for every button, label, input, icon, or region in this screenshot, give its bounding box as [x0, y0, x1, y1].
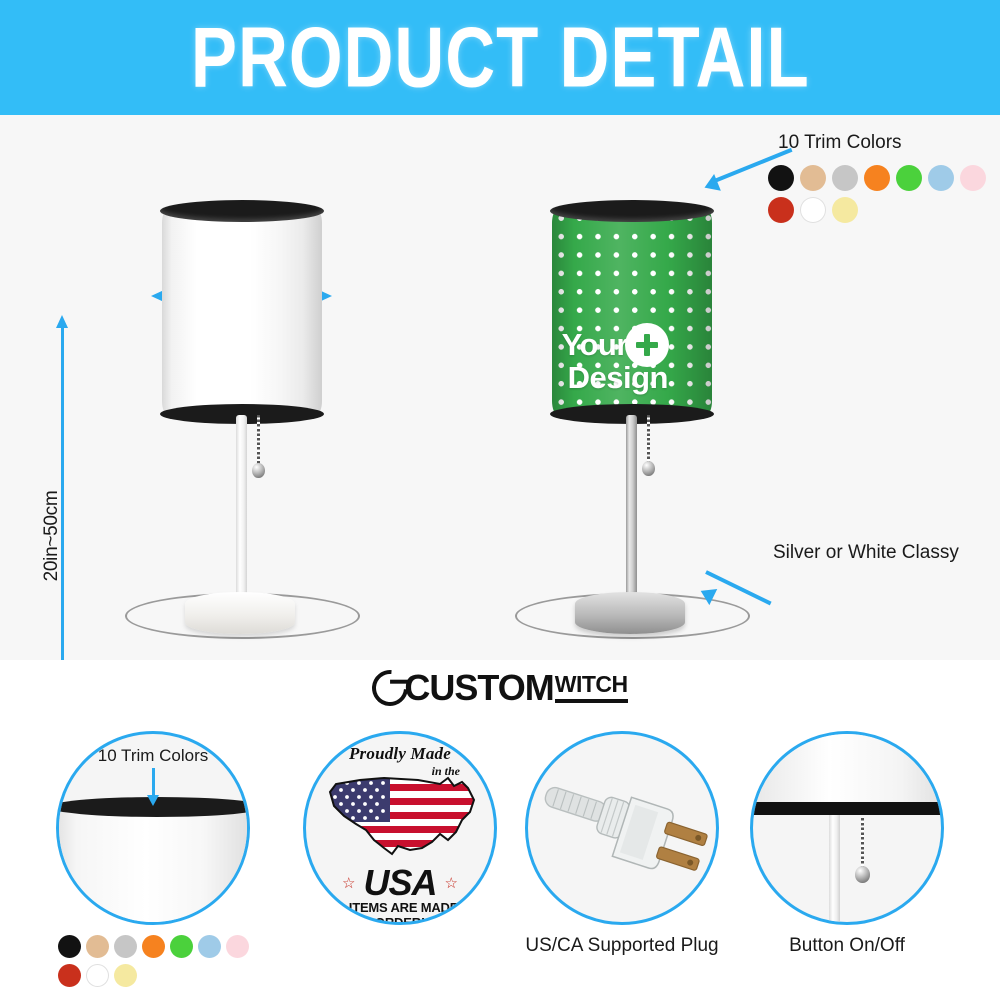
feature-panels: 10 Trim Colors Proudly Made in the [0, 715, 1000, 1000]
usa-badge-line1: Proudly Made [306, 744, 494, 764]
lamp-white-base [185, 592, 295, 634]
lamp-green-base [575, 592, 685, 634]
lamp-white-pull-chain [257, 415, 260, 465]
plug-panel-caption: US/CA Supported Plug [497, 935, 747, 957]
trim-color-swatch-light-blue[interactable] [198, 935, 221, 958]
trim-colors-panel-shade [56, 806, 250, 925]
trim-color-swatch-white[interactable] [800, 197, 826, 223]
trim-colors-swatch-row-bottom [58, 935, 273, 993]
lamp-white-chain-ball [252, 463, 265, 478]
trim-color-swatch-white[interactable] [86, 964, 109, 987]
product-showcase-stage: 7in~18cm 20in~50cm Your Design [0, 115, 1000, 660]
trim-color-swatch-tan[interactable] [86, 935, 109, 958]
lamp-green-shade-surface: Your Design [552, 209, 712, 415]
lamp-white-trim-top [160, 200, 324, 222]
lamp-green-pull-chain [647, 415, 650, 463]
made-in-usa-panel: Proudly Made in the [275, 727, 525, 1000]
trim-color-swatch-light-blue[interactable] [928, 165, 954, 191]
trim-color-swatch-pink[interactable] [226, 935, 249, 958]
switch-panel-caption: Button On/Off [722, 935, 972, 957]
lamp-green-shade: Your Design [552, 209, 712, 415]
usa-star-right: ☆ [445, 874, 458, 892]
us-power-plug-icon [538, 774, 718, 894]
made-in-usa-circle: Proudly Made in the [303, 731, 497, 925]
trim-colors-panel-circle: 10 Trim Colors [56, 731, 250, 925]
switch-panel: Button On/Off [722, 727, 972, 1000]
header-banner: PRODUCT DETAIL [0, 0, 1000, 115]
lamp-white-shade-surface [162, 209, 322, 415]
pull-chain-ball [855, 866, 870, 883]
down-arrow-icon [152, 768, 155, 796]
trim-color-swatch-yellow[interactable] [832, 197, 858, 223]
trim-colors-panel-label: 10 Trim Colors [59, 746, 247, 766]
height-dimension-label: 20in~50cm [41, 441, 63, 631]
brand-name-primary: CUSTOM [404, 667, 553, 709]
lamp-green-pole [626, 415, 637, 615]
trim-color-swatch-orange[interactable] [142, 935, 165, 958]
trim-color-swatch-orange[interactable] [864, 165, 890, 191]
trim-color-swatch-gray[interactable] [832, 165, 858, 191]
trim-colors-swatch-row-top [768, 165, 1000, 229]
trim-colors-panel: 10 Trim Colors [28, 727, 278, 1000]
brand-underline [555, 699, 628, 703]
usa-badge-word: USA [306, 862, 494, 904]
trim-colors-callout-label: 10 Trim Colors [778, 132, 902, 154]
trim-color-swatch-black[interactable] [58, 935, 81, 958]
switch-panel-shade [750, 731, 944, 806]
switch-panel-trim [750, 802, 944, 815]
trim-color-swatch-red[interactable] [58, 964, 81, 987]
trim-color-swatch-tan[interactable] [800, 165, 826, 191]
custom-design-area: Your Design [562, 329, 703, 394]
plug-panel-circle [525, 731, 719, 925]
usa-flag-map-icon [322, 770, 484, 862]
switch-panel-circle [750, 731, 944, 925]
base-finish-callout-label: Silver or White Classy [773, 542, 959, 564]
usa-badge-note: ALL ITEMS ARE MADE TO ORDER! [306, 900, 494, 925]
trim-color-swatch-gray[interactable] [114, 935, 137, 958]
page-title: PRODUCT DETAIL [191, 9, 810, 106]
brand-name-secondary-box: WITCH [555, 673, 628, 703]
lamp-white-shade [162, 209, 322, 415]
switch-panel-pole [829, 815, 840, 925]
plus-circle-icon[interactable] [625, 323, 669, 367]
lamp-green-chain-ball [642, 461, 655, 476]
trim-color-swatch-pink[interactable] [960, 165, 986, 191]
trim-color-swatch-red[interactable] [768, 197, 794, 223]
plug-panel: US/CA Supported Plug [497, 727, 747, 1000]
trim-color-swatch-green[interactable] [170, 935, 193, 958]
brand-name-secondary: WITCH [555, 673, 628, 696]
trim-color-swatch-yellow[interactable] [114, 964, 137, 987]
lamp-green-trim-top [550, 200, 714, 222]
brand-logo: CUSTOM WITCH [0, 660, 1000, 715]
trim-color-swatch-green[interactable] [896, 165, 922, 191]
trim-color-swatch-black[interactable] [768, 165, 794, 191]
lamp-white-pole [236, 415, 247, 615]
design-line-2: Design [562, 362, 703, 395]
pull-chain-icon [861, 818, 864, 868]
